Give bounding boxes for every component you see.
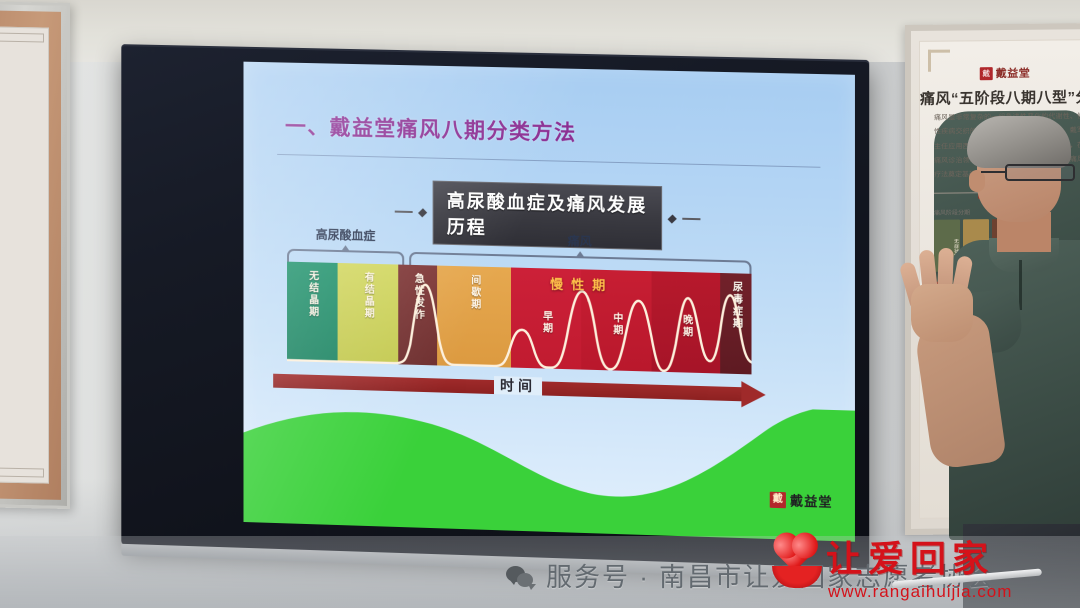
brace-label: 高尿酸血症: [316, 226, 376, 244]
presenter-hand: [901, 248, 983, 344]
stage-band-label: 晚期: [678, 314, 693, 339]
poster-seal-icon: 戴: [980, 67, 993, 80]
presenter-glasses: [1005, 164, 1075, 181]
time-arrow-head-icon: [741, 381, 765, 408]
stage-band-label: 急性发作: [410, 273, 425, 321]
wechat-tail-large: [509, 579, 517, 585]
frame-mat: [0, 10, 61, 500]
brace-label: 痛风: [568, 232, 592, 250]
brand-seal-icon: 戴: [770, 491, 786, 508]
stage-band-3: 间歇期: [438, 266, 511, 368]
slide-title: 一、戴益堂痛风八期分类方法: [285, 110, 577, 147]
hands-icon: [772, 566, 822, 588]
display-screen: 一、戴益堂痛风八期分类方法 高尿酸血症及痛风发展历程 高尿酸血症: [244, 62, 855, 542]
stage-band-6: 晚期: [652, 271, 721, 373]
stage-band-label: 尿毒症期: [728, 281, 743, 330]
slide-green-wave-decoration: [244, 393, 855, 542]
stage-band-label: 间歇期: [467, 274, 482, 310]
wall-frame-left: [0, 1, 70, 509]
slide-canvas: 一、戴益堂痛风八期分类方法 高尿酸血症及痛风发展历程 高尿酸血症: [244, 62, 855, 542]
presentation-display: 一、戴益堂痛风八期分类方法 高尿酸血症及痛风发展历程 高尿酸血症: [121, 44, 869, 569]
rangaihuijia-logo: 让爱回家 www.rangaihuijia.com: [772, 536, 1072, 604]
presenter-hair: [967, 116, 1071, 168]
poster-brand-text: 戴益堂: [996, 65, 1031, 81]
stage-band-label: 中期: [609, 312, 624, 336]
banner-diamond-right-icon: [667, 214, 676, 223]
presentation-room-photo: 戴 戴益堂 痛风“五阶段八期八型”分 痛风是非常复杂的一组急进性恶化的代谢性、慢…: [0, 0, 1080, 608]
slide-title-underline: [277, 154, 820, 168]
stage-band-row: 无结晶期 有结晶期 急性发作 间歇期 早期: [287, 262, 751, 375]
logo-name-text: 让爱回家: [826, 530, 994, 582]
video-watermark-bar: 服务号 · 南昌市让爱回家志愿者协会 让爱回家 www.rangaihuijia…: [0, 536, 1080, 608]
chronic-phase-label: 慢性期: [550, 274, 613, 295]
poster-logo: 戴 戴益堂: [980, 65, 1031, 82]
banner-tail-left: [395, 211, 413, 213]
wechat-tail-small: [528, 584, 536, 590]
poster-corner-ornament: [928, 50, 950, 72]
banner-diamond-left-icon: [418, 208, 427, 217]
brace-nub-icon: [341, 245, 351, 252]
stage-band-7: 尿毒症期: [721, 273, 752, 374]
brace-nub-icon: [575, 251, 585, 258]
slide-brand-logo: 戴 戴益堂: [770, 490, 833, 511]
stage-band-label: 无结晶期: [305, 270, 320, 318]
heart-hands-icon: [772, 542, 822, 588]
presenter-ear: [969, 170, 985, 192]
wechat-icon: [506, 566, 536, 590]
time-axis-label: 时间: [494, 376, 542, 395]
brand-name-text: 戴益堂: [790, 490, 833, 510]
stage-band-label: 早期: [539, 310, 554, 334]
presenter-palm: [911, 284, 973, 342]
poster-title: 痛风“五阶段八期八型”分: [920, 86, 1080, 109]
presenter-placket: [1019, 260, 1022, 310]
stage-band-label: 有结晶期: [360, 272, 375, 320]
stage-band-1: 有结晶期: [337, 263, 398, 364]
frame-paper: [0, 26, 49, 483]
stage-chart: 无结晶期 有结晶期 急性发作 间歇期 早期: [287, 262, 751, 375]
stage-band-0: 无结晶期: [287, 262, 337, 363]
logo-url-text: www.rangaihuijia.com: [828, 582, 1012, 602]
stage-band-2: 急性发作: [398, 265, 437, 366]
banner-tail-right: [682, 218, 701, 220]
